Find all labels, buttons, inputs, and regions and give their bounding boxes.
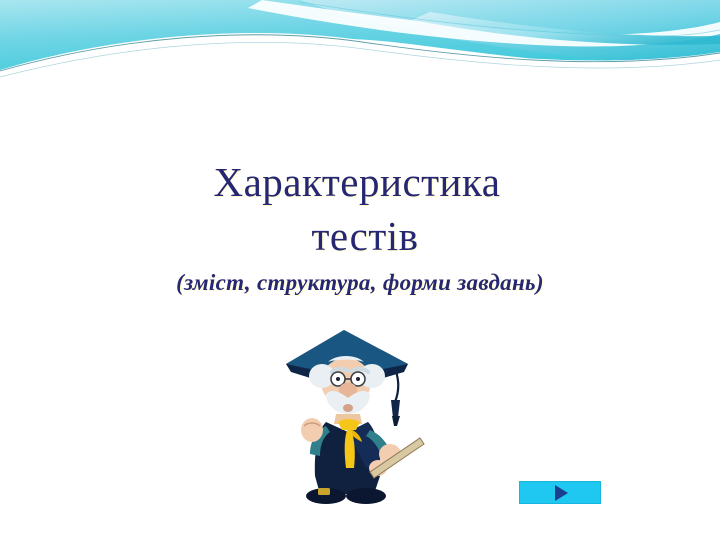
- fist-left: [301, 418, 323, 442]
- shoe-buckle: [318, 488, 330, 495]
- eye-left: [336, 377, 340, 381]
- slide-subtitle: (зміст, структура, форми завдань): [0, 269, 720, 297]
- wave-ribbon-white-main: [0, 33, 720, 92]
- wave-outline-secondary: [0, 42, 720, 77]
- wave-ribbon-white-streak: [248, 0, 720, 47]
- wave-layer-base: [0, 0, 720, 74]
- slide-title-line-1: Характеристика: [0, 155, 720, 209]
- decorative-wave-banner: [0, 0, 720, 92]
- play-triangle-right-icon: [555, 485, 568, 501]
- wave-layer-right: [300, 0, 720, 62]
- wave-outline-main: [0, 35, 720, 71]
- shoe-right: [346, 488, 386, 504]
- presentation-slide: Характеристика тестів (зміст, структура,…: [0, 0, 720, 540]
- next-slide-button[interactable]: [519, 481, 601, 504]
- professor-clipart: [282, 326, 430, 508]
- mouth: [343, 404, 353, 412]
- wave-outline-upper: [300, 2, 720, 36]
- title-block: Характеристика тестів (зміст, структура,…: [0, 155, 720, 297]
- eye-right: [356, 377, 360, 381]
- wave-highlight-arc: [412, 12, 720, 45]
- slide-title-line-2: тестів: [0, 209, 720, 263]
